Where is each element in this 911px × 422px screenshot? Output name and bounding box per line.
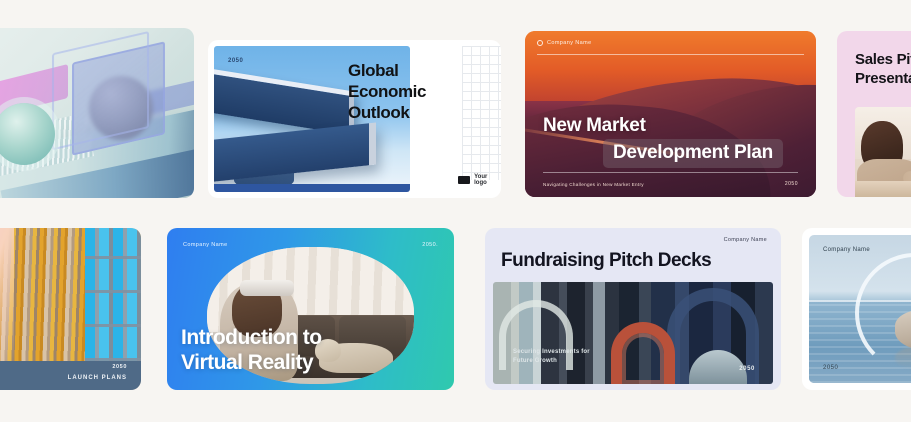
global-title: Global Economic Outlook xyxy=(348,60,501,123)
launch-year: 2050 xyxy=(112,364,127,370)
vr-title: Introduction to Virtual Reality xyxy=(181,325,322,376)
template-card-global-economic-outlook[interactable]: 2050 Global Economic Outlook Your logo xyxy=(208,40,501,198)
water-year: 2050 xyxy=(823,365,838,371)
template-card-sales-pitch-presentation[interactable]: Sales Pitch Presentation xyxy=(837,31,911,197)
template-card-launch-plans[interactable]: 2050 LAUNCH PLANS xyxy=(0,228,141,390)
global-logo-lockup: Your logo xyxy=(458,174,495,186)
vr-title-line-1: Introduction to xyxy=(181,325,322,351)
sales-title-line-1: Sales Pitch xyxy=(855,51,911,70)
sales-title-line-2: Presentation xyxy=(855,70,911,89)
global-title-line-2: Economic xyxy=(348,81,501,102)
vr-title-line-2: Virtual Reality xyxy=(181,350,322,376)
fundraising-title: Fundraising Pitch Decks xyxy=(501,250,711,272)
sales-photo xyxy=(855,107,911,197)
vr-company-name: Company Name xyxy=(183,242,228,248)
global-text-panel: Global Economic Outlook Your logo xyxy=(410,46,495,192)
water-company-name: Company Name xyxy=(823,247,870,253)
logo-badge-icon xyxy=(458,176,470,184)
global-title-line-3: Outlook xyxy=(348,102,501,123)
fundraising-subtitle-line-2: Future Growth xyxy=(513,357,590,366)
market-year: 2050 xyxy=(785,181,798,187)
market-top-rule xyxy=(537,54,804,55)
global-floor-band xyxy=(214,184,410,192)
launch-glass-frame xyxy=(85,228,141,361)
launch-sky-gradient xyxy=(0,228,14,361)
template-card-abstract-3d[interactable] xyxy=(0,28,194,198)
market-company-name: Company Name xyxy=(547,40,592,46)
water-artwork: Company Name 2050 xyxy=(809,235,911,383)
template-card-fundraising-pitch-decks[interactable]: Company Name Fundraising Pitch Decks Sec… xyxy=(485,228,781,390)
sales-title: Sales Pitch Presentation xyxy=(855,51,911,89)
fundraising-artwork: Securing Investments for Future Growth 2… xyxy=(493,282,773,384)
global-ribbon-top xyxy=(214,65,354,136)
fundraising-arch-red xyxy=(611,322,675,384)
vr-headset xyxy=(240,280,294,296)
template-gallery: 2050 Global Economic Outlook Your logo C… xyxy=(0,0,911,422)
fundraising-subtitle-line-1: Securing Investments for xyxy=(513,348,590,357)
market-header: Company Name xyxy=(537,40,804,46)
global-logo-label: Your logo xyxy=(474,174,495,186)
global-year: 2050 xyxy=(228,58,243,64)
template-card-introduction-to-virtual-reality[interactable]: Company Name 2050. Introduction to Virtu… xyxy=(167,228,454,390)
market-title-line-1: New Market xyxy=(543,115,646,137)
fundraising-year: 2050 xyxy=(739,366,755,372)
global-title-line-1: Global xyxy=(348,60,501,81)
market-subtitle: Navigating Challenges in New Market Entr… xyxy=(543,182,644,187)
template-card-new-market-development-plan[interactable]: Company Name New Market Development Plan… xyxy=(525,31,816,197)
fundraising-company-name: Company Name xyxy=(724,237,767,243)
launch-subtitle: LAUNCH PLANS xyxy=(68,375,127,381)
company-mark-icon xyxy=(537,40,543,46)
vr-year: 2050. xyxy=(422,242,438,248)
sales-photo-desk xyxy=(855,181,911,197)
market-bottom-rule xyxy=(543,172,798,173)
fundraising-subtitle: Securing Investments for Future Growth xyxy=(513,348,590,366)
global-ribbon-bottom xyxy=(214,123,376,184)
market-title-line-2: Development Plan xyxy=(603,139,783,168)
template-card-water-scene[interactable]: Company Name 2050 xyxy=(802,228,911,390)
